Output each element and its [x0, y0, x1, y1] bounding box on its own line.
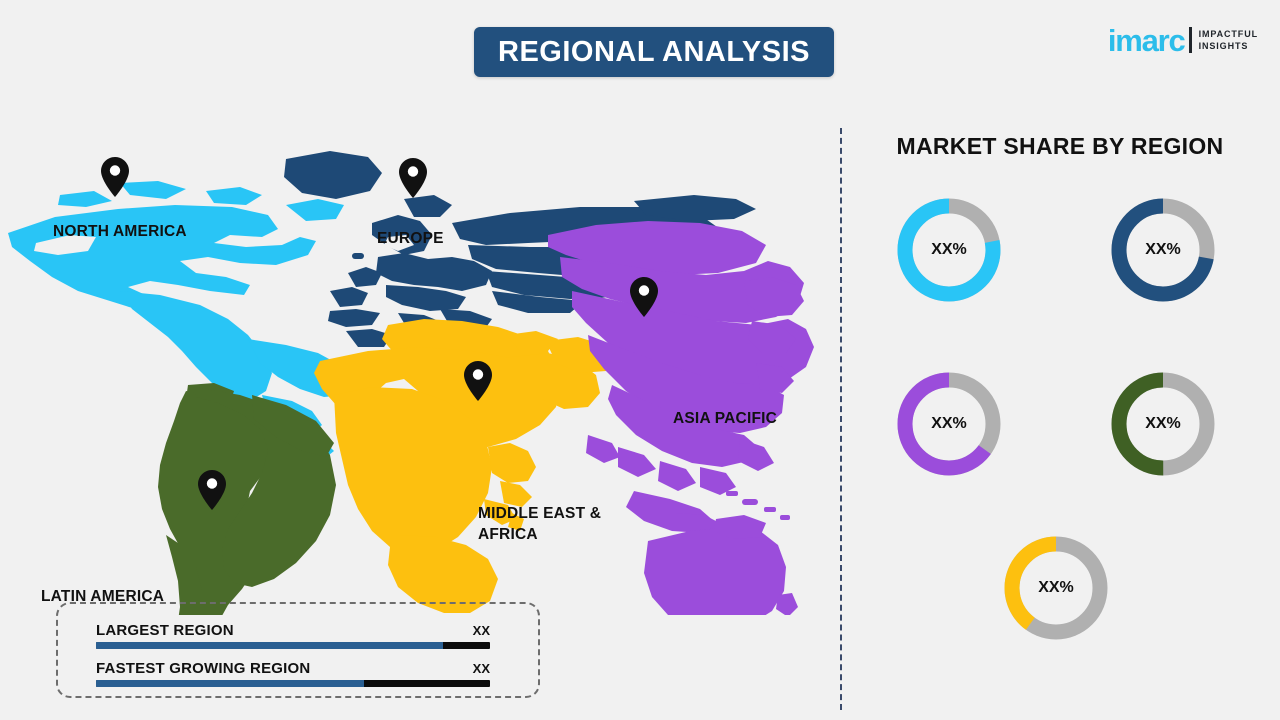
- map-pin-icon-north-america[interactable]: [100, 156, 130, 198]
- legend-value-largest-region: XX: [473, 623, 490, 638]
- legend-label-largest-region: LARGEST REGION: [96, 622, 234, 639]
- legend-label-fastest-growing-region: FASTEST GROWING REGION: [96, 660, 310, 677]
- logo-tagline-line2: INSIGHTS: [1199, 40, 1258, 52]
- page-title-banner: REGIONAL ANALYSIS: [474, 27, 834, 77]
- map-label-europe: EUROPE: [377, 228, 444, 249]
- donut-value-label: XX%: [1104, 191, 1222, 309]
- legend-row-fastest-growing-region: FASTEST GROWING REGION XX: [96, 660, 490, 687]
- donut-value-label: XX%: [890, 365, 1008, 483]
- map-label-middle-east-africa: MIDDLE EAST & AFRICA: [478, 503, 648, 545]
- world-map-panel: NORTH AMERICA EUROPE ASIA PACIFIC MIDDLE…: [0, 95, 830, 615]
- donut-value-label: XX%: [1104, 365, 1222, 483]
- map-pin-icon-latin-america[interactable]: [197, 469, 227, 511]
- region-greenland: [284, 151, 382, 199]
- legend-value-fastest-growing-region: XX: [473, 661, 490, 676]
- legend-bar-fill-fastest-growing-region: [96, 680, 364, 687]
- map-pin-icon-europe[interactable]: [398, 157, 428, 199]
- legend-bar-largest-region: [96, 642, 490, 649]
- legend-row-largest-region: LARGEST REGION XX: [96, 622, 490, 649]
- donut-chart-europe: XX%: [1104, 191, 1222, 309]
- logo-divider-icon: [1189, 27, 1192, 53]
- donut-value-label: XX%: [890, 191, 1008, 309]
- donut-chart-asia-pacific: XX%: [890, 365, 1008, 483]
- donut-value-label: XX%: [997, 529, 1115, 647]
- map-label-north-america: NORTH AMERICA: [53, 221, 187, 242]
- donut-chart-north-america: XX%: [890, 191, 1008, 309]
- map-pin-icon-middle-east-africa[interactable]: [463, 360, 493, 402]
- market-share-panel: MARKET SHARE BY REGION XX%XX%XX%XX%XX%: [840, 95, 1280, 720]
- map-pin-icon-asia-pacific[interactable]: [629, 276, 659, 318]
- market-share-title: MARKET SHARE BY REGION: [840, 133, 1280, 160]
- infographic-canvas: REGIONAL ANALYSIS imarc IMPACTFUL INSIGH…: [0, 0, 1280, 720]
- page-title: REGIONAL ANALYSIS: [498, 36, 810, 69]
- donut-chart-latin-america: XX%: [1104, 365, 1222, 483]
- imarc-logo: imarc IMPACTFUL INSIGHTS: [1108, 22, 1258, 58]
- legend-bar-fill-largest-region: [96, 642, 443, 649]
- logo-tagline: IMPACTFUL INSIGHTS: [1199, 28, 1258, 52]
- legend-bar-fastest-growing-region: [96, 680, 490, 687]
- region-summary-box: LARGEST REGION XX FASTEST GROWING REGION…: [56, 602, 540, 698]
- region-latin-america: [158, 383, 336, 615]
- donut-chart-middle-east-africa: XX%: [997, 529, 1115, 647]
- map-label-asia-pacific: ASIA PACIFIC: [673, 408, 777, 429]
- logo-tagline-line1: IMPACTFUL: [1199, 28, 1258, 40]
- logo-wordmark: imarc: [1108, 25, 1185, 56]
